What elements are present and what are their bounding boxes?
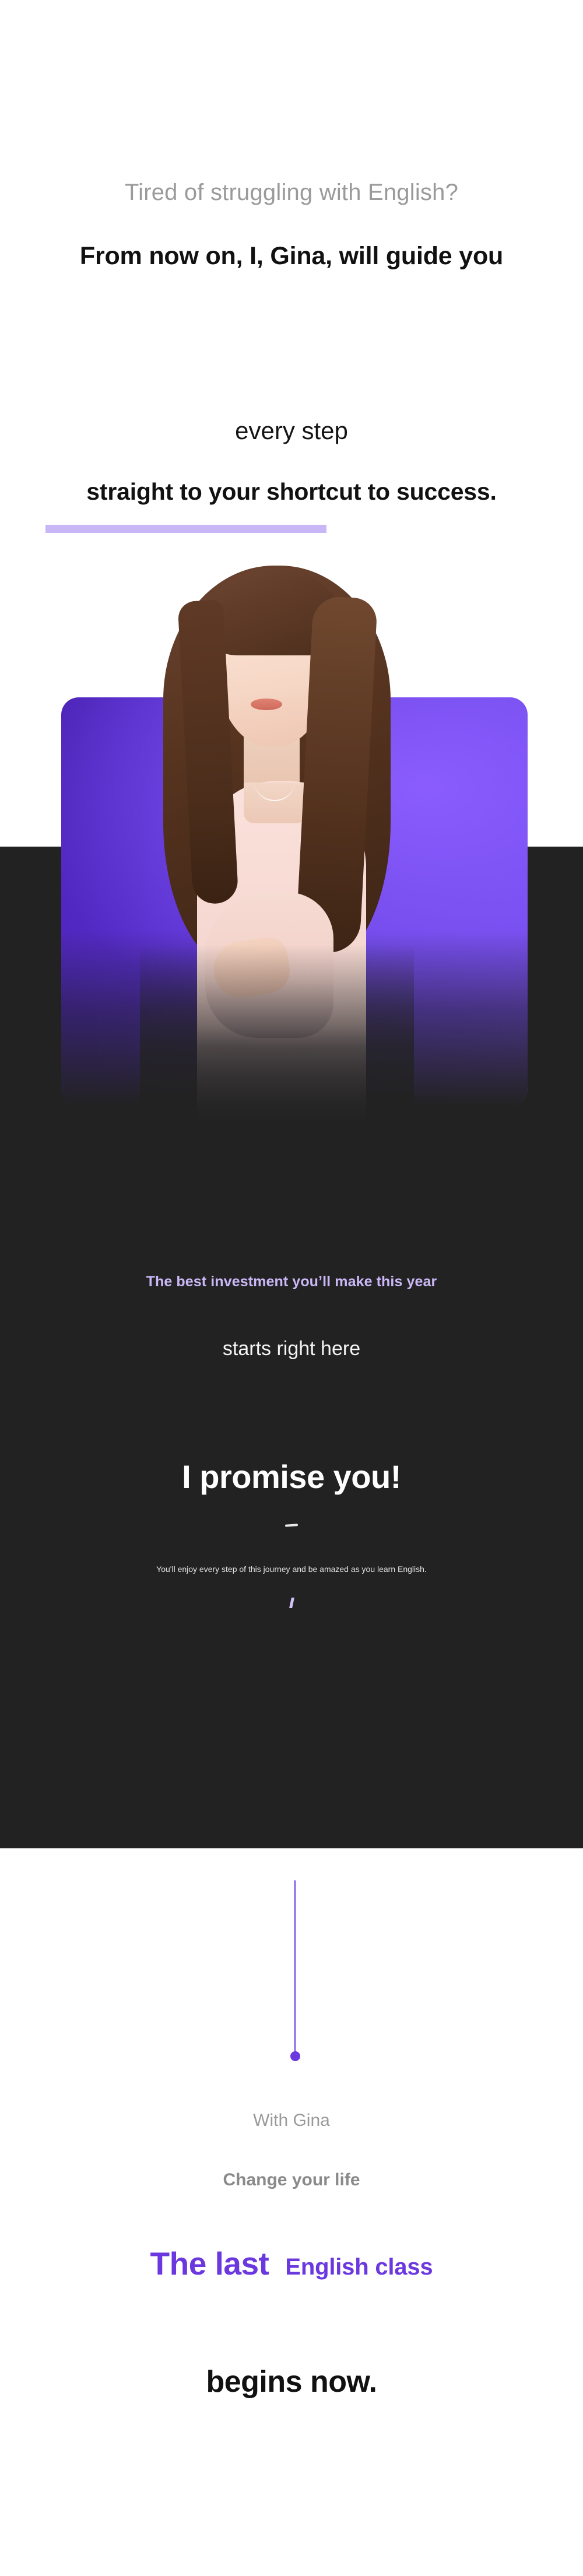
promise-headline: I promise you! <box>0 1458 583 1496</box>
gina-portrait <box>140 548 414 1131</box>
intro-eyebrow-text: Tired of struggling with English? <box>0 180 583 206</box>
the-last-text: The last <box>150 2245 269 2282</box>
intro-shortcut-headline: straight to your shortcut to success. <box>0 478 583 506</box>
starts-here-text: starts right here <box>0 1338 583 1360</box>
begins-now-text: begins now. <box>0 2364 583 2399</box>
hero-section <box>0 548 583 1131</box>
change-your-life-text: Change your life <box>0 2170 583 2190</box>
intro-lead-headline: From now on, I, Gina, will guide you <box>0 242 583 271</box>
vertical-connector-line <box>294 1880 296 2055</box>
accent-underline-bar <box>45 525 326 533</box>
portrait-bottom-fade <box>140 945 414 1131</box>
investment-headline: The best investment you’ll make this yea… <box>0 1273 583 1290</box>
intro-step-text: every step <box>0 417 583 445</box>
final-headline-row: The last English class <box>0 2245 583 2282</box>
portrait-lips <box>251 699 282 710</box>
english-class-text: English class <box>285 2254 433 2280</box>
with-gina-text: With Gina <box>0 2111 583 2131</box>
landing-page: Tired of struggling with English? From n… <box>0 0 583 2576</box>
connector-end-dot-icon <box>290 2051 300 2061</box>
fineprint-text: You'll enjoy every step of this journey … <box>0 1564 583 1574</box>
